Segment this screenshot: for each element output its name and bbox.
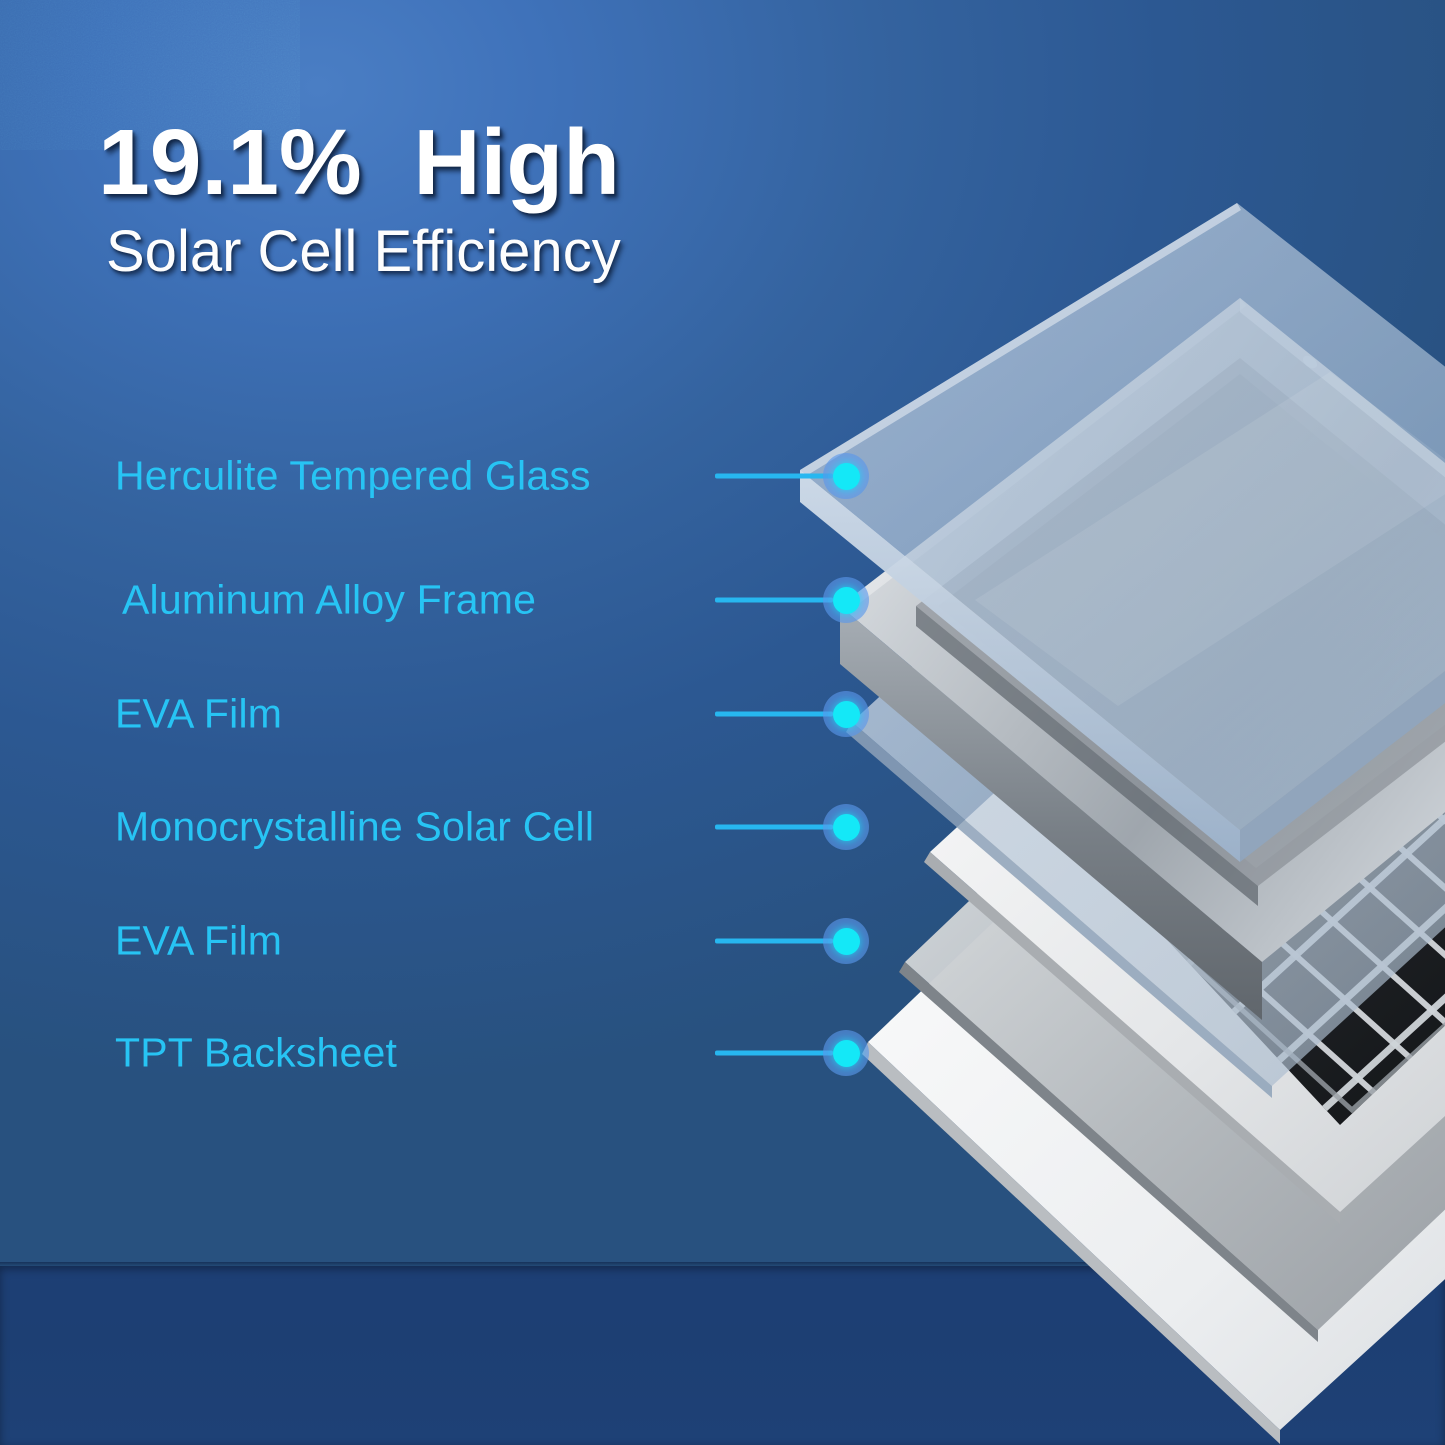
callout-dot-marker (823, 453, 869, 499)
layer-eva-film-upper (846, 345, 1445, 1098)
callout-dot-marker (823, 1030, 869, 1076)
panel-brand-mark: ACOPOWER (1195, 600, 1274, 670)
layer-monocrystalline-solar-cell: ACOPOWER (924, 512, 1445, 1224)
callout-dot-marker (823, 691, 869, 737)
callout-dot-marker (823, 918, 869, 964)
callout-leader-line (715, 474, 833, 479)
headline-block: 19.1% High Solar Cell Efficiency (98, 116, 621, 281)
callout-leader-line (715, 825, 833, 830)
page-title: 19.1% High (98, 116, 621, 209)
callout-leader-line (715, 1051, 833, 1056)
callout-dot-marker (823, 577, 869, 623)
svg-text:ACOPOWER: ACOPOWER (1195, 600, 1274, 670)
callout-label: EVA Film (115, 691, 282, 738)
callout-leader-line (715, 598, 833, 603)
layer-eva-film-lower (899, 602, 1445, 1342)
callout-label: Aluminum Alloy Frame (122, 577, 536, 624)
infographic-canvas: ACOPOWER (0, 0, 1445, 1445)
page-subtitle: Solar Cell Efficiency (106, 223, 621, 281)
floor-band (0, 1266, 1445, 1445)
callout-label: Herculite Tempered Glass (115, 453, 591, 500)
layer-herculite-tempered-glass (800, 203, 1445, 862)
callout-label: TPT Backsheet (115, 1030, 397, 1077)
callout-dot-marker (823, 804, 869, 850)
callout-label: EVA Film (115, 918, 282, 965)
callout-leader-line (715, 712, 833, 717)
layer-aluminum-alloy-frame (840, 298, 1445, 1020)
callout-leader-line (715, 939, 833, 944)
callout-label: Monocrystalline Solar Cell (115, 804, 594, 851)
